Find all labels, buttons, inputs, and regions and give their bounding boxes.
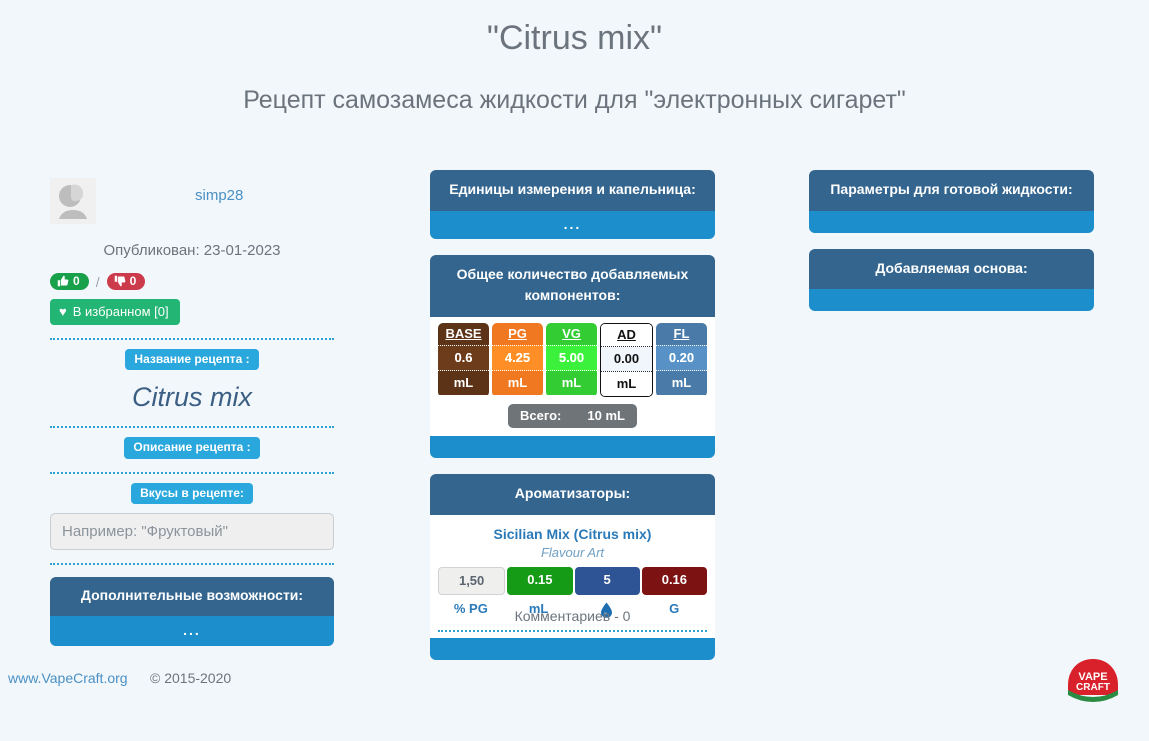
page-header: "Citrus mix" Рецепт самозамеса жидкости … bbox=[0, 0, 1149, 115]
component-unit: mL bbox=[492, 371, 543, 395]
flavour-brand: Flavour Art bbox=[435, 545, 710, 560]
author-name-link[interactable]: simp28 bbox=[195, 187, 243, 204]
recipe-flavours-chip: Вкусы в рецепте: bbox=[131, 483, 253, 504]
component-name: AD bbox=[601, 324, 652, 346]
divider bbox=[50, 472, 334, 474]
flavour-value-drops[interactable]: 5 bbox=[575, 567, 640, 595]
divider bbox=[438, 630, 707, 632]
components-panel-footer[interactable] bbox=[430, 436, 715, 458]
component-column-ad: AD 0.00 mL bbox=[600, 323, 653, 397]
components-panel: Общее количество добавляемых компонентов… bbox=[430, 255, 715, 458]
units-panel: Единицы измерения и капельница: ... bbox=[430, 170, 715, 239]
components-table: BASE 0.6 mL PG 4.25 mL VG 5.00 mL bbox=[435, 323, 710, 397]
favourites-label: В избранном [0] bbox=[73, 304, 169, 319]
liquid-params-panel: Параметры для готовой жидкости: bbox=[809, 170, 1094, 233]
base-panel: Добавляемая основа: bbox=[809, 249, 1094, 312]
divider bbox=[50, 563, 334, 565]
component-column-fl: FL 0.20 mL bbox=[656, 323, 707, 397]
units-panel-title: Единицы измерения и капельница: bbox=[430, 170, 715, 211]
avatar bbox=[50, 178, 96, 224]
thumbs-up-icon bbox=[57, 275, 69, 287]
heart-icon: ♥ bbox=[59, 305, 67, 318]
component-column-vg: VG 5.00 mL bbox=[546, 323, 597, 397]
component-value[interactable]: 0.00 bbox=[601, 346, 652, 372]
flavour-value-grams[interactable]: 0.16 bbox=[642, 567, 707, 595]
flavour-value-percent-pg[interactable]: 1,50 bbox=[438, 567, 505, 595]
component-value[interactable]: 0.6 bbox=[438, 345, 489, 371]
dislike-button[interactable]: 0 bbox=[107, 273, 146, 290]
like-button[interactable]: 0 bbox=[50, 273, 89, 290]
vote-row: 0 / 0 bbox=[50, 273, 334, 290]
components-panel-title: Общее количество добавляемых компонентов… bbox=[430, 255, 715, 317]
component-unit: mL bbox=[546, 371, 597, 395]
component-name: PG bbox=[492, 323, 543, 345]
base-panel-footer[interactable] bbox=[809, 289, 1094, 311]
total-label: Всего: bbox=[520, 408, 561, 423]
liquid-params-footer[interactable] bbox=[809, 211, 1094, 233]
components-panel-body: BASE 0.6 mL PG 4.25 mL VG 5.00 mL bbox=[430, 317, 715, 436]
svg-text:CRAFT: CRAFT bbox=[1076, 682, 1110, 693]
component-unit: mL bbox=[438, 371, 489, 395]
extra-options-panel: Дополнительные возможности: ... bbox=[50, 577, 334, 646]
vapecraft-logo[interactable]: VAPE CRAFT bbox=[1065, 656, 1121, 712]
recipe-name: Citrus mix bbox=[50, 382, 334, 413]
thumbs-down-icon bbox=[114, 275, 126, 287]
total-row: Всего: 10 mL bbox=[435, 404, 710, 428]
component-name: BASE bbox=[438, 323, 489, 345]
like-count: 0 bbox=[73, 275, 80, 287]
extra-options-footer[interactable]: ... bbox=[50, 616, 334, 646]
component-name: VG bbox=[546, 323, 597, 345]
component-column-pg: PG 4.25 mL bbox=[492, 323, 543, 397]
flavours-panel: Ароматизаторы: Sicilian Mix (Citrus mix)… bbox=[430, 474, 715, 660]
page-subtitle: Рецепт самозамеса жидкости для "электрон… bbox=[0, 85, 1149, 115]
component-value[interactable]: 4.25 bbox=[492, 345, 543, 371]
divider bbox=[50, 426, 334, 428]
component-column-base: BASE 0.6 mL bbox=[438, 323, 489, 397]
right-column: Параметры для готовой жидкости: Добавляе… bbox=[809, 170, 1094, 327]
flavours-panel-title: Ароматизаторы: bbox=[430, 474, 715, 515]
comments-count: Комментариев - 0 bbox=[430, 608, 715, 624]
flavour-values-row: 1,50 0.15 5 0.16 bbox=[435, 567, 710, 595]
left-column: simp28 Опубликован: 23-01-2023 0 / bbox=[50, 170, 334, 646]
component-value[interactable]: 0.20 bbox=[656, 345, 707, 371]
recipe-name-chip: Название рецепта : bbox=[125, 349, 258, 370]
flavour-name[interactable]: Sicilian Mix (Citrus mix) bbox=[435, 526, 710, 542]
page-title: "Citrus mix" bbox=[0, 18, 1149, 59]
extra-options-title: Дополнительные возможности: bbox=[50, 577, 334, 616]
component-unit: mL bbox=[601, 372, 652, 396]
total-value: 10 mL bbox=[587, 408, 625, 423]
footer-site-link[interactable]: www.VapeCraft.org bbox=[8, 670, 128, 686]
liquid-params-title: Параметры для готовой жидкости: bbox=[809, 170, 1094, 211]
units-panel-footer[interactable]: ... bbox=[430, 211, 715, 239]
component-unit: mL bbox=[656, 371, 707, 395]
middle-column: Единицы измерения и капельница: ... Обще… bbox=[430, 170, 715, 676]
component-name: FL bbox=[656, 323, 707, 345]
component-value[interactable]: 5.00 bbox=[546, 345, 597, 371]
flavour-value-ml[interactable]: 0.15 bbox=[507, 567, 572, 595]
base-panel-title: Добавляемая основа: bbox=[809, 249, 1094, 290]
author-row: simp28 bbox=[50, 170, 334, 220]
divider bbox=[50, 338, 334, 340]
footer-copyright: © 2015-2020 bbox=[150, 670, 231, 686]
dislike-count: 0 bbox=[130, 275, 137, 287]
page-footer: www.VapeCraft.org © 2015-2020 VAPE CRAFT bbox=[0, 646, 1149, 741]
add-to-favourites-button[interactable]: ♥ В избранном [0] bbox=[50, 299, 180, 325]
published-date: Опубликован: 23-01-2023 bbox=[50, 242, 334, 259]
flavours-input[interactable] bbox=[50, 513, 334, 550]
recipe-description-chip: Описание рецепта : bbox=[124, 437, 259, 458]
total-badge: Всего: 10 mL bbox=[508, 404, 637, 428]
vote-separator: / bbox=[96, 274, 100, 290]
